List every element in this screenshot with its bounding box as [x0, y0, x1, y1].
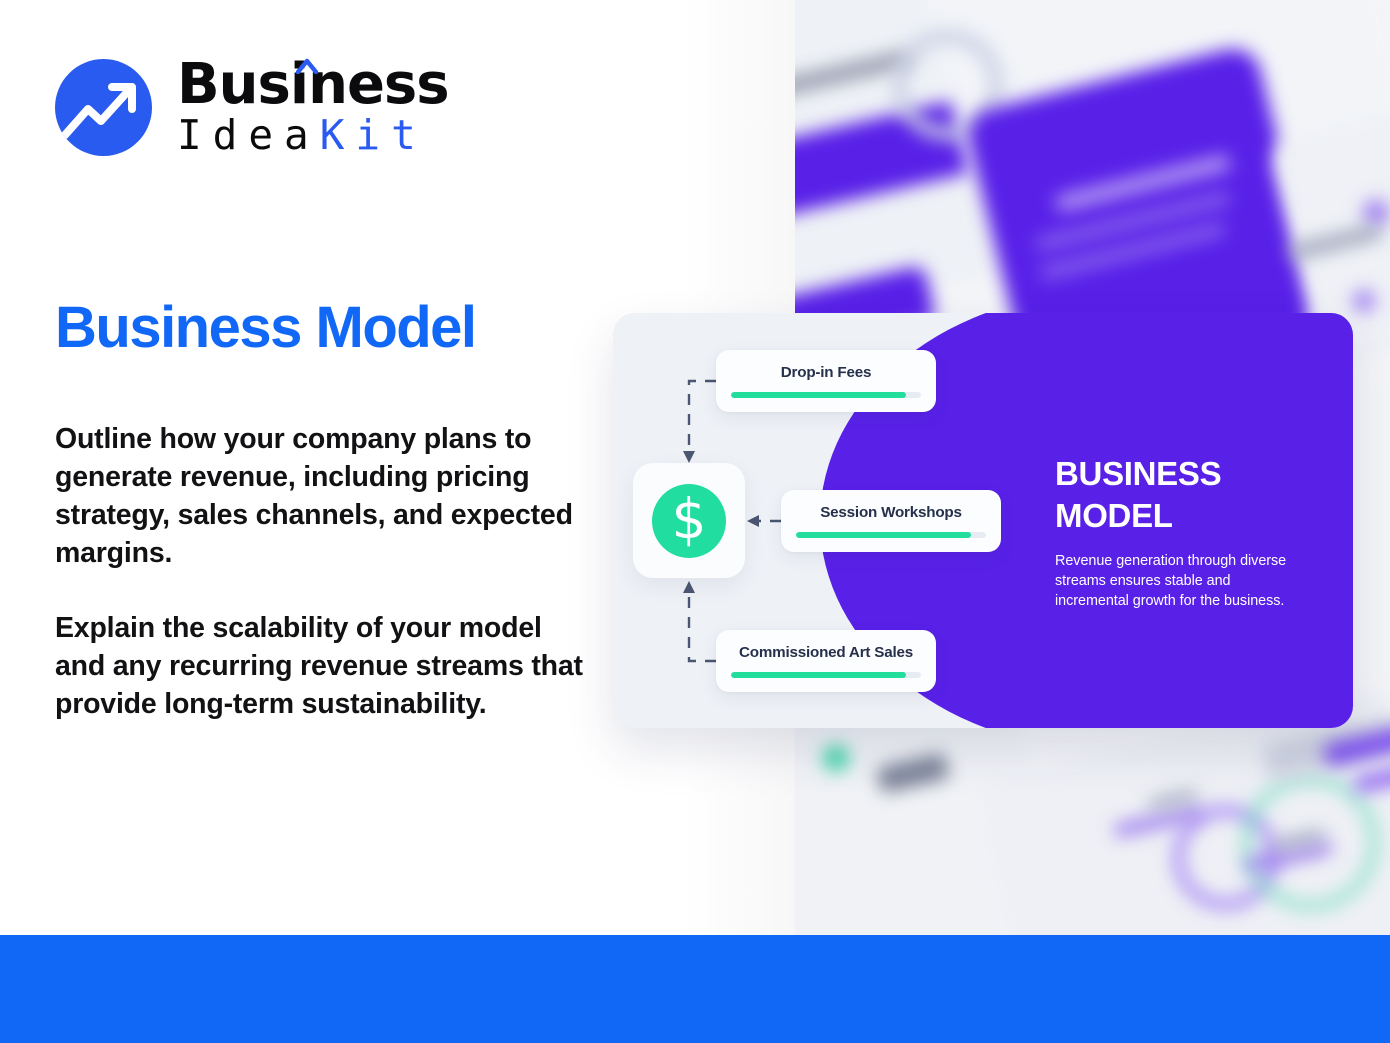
dollar-glyph: $	[672, 492, 707, 547]
stream-node-session-workshops[interactable]: Session Workshops	[781, 490, 1001, 552]
stream-progress-track	[796, 532, 986, 538]
brand-name-idea: Idea	[177, 111, 320, 159]
purple-panel-title: BUSINESS MODEL	[1055, 453, 1325, 537]
purple-panel-description: Revenue generation through diverse strea…	[1055, 551, 1305, 611]
growth-arrow-icon	[55, 59, 152, 156]
stream-label: Drop-in Fees	[781, 364, 871, 381]
body-paragraph-1: Outline how your company plans to genera…	[55, 420, 590, 572]
stream-progress-track	[731, 672, 921, 678]
purple-panel-content: BUSINESS MODEL Revenue generation throug…	[1043, 313, 1353, 728]
stream-progress-fill	[731, 672, 906, 678]
stream-progress-fill	[796, 532, 971, 538]
dollar-sign-icon: $	[652, 484, 726, 558]
brand-name-kit: Kit	[320, 111, 427, 159]
stream-progress-fill	[731, 392, 906, 398]
brand-wordmark: Business IdeaKit	[177, 56, 449, 158]
stream-node-commissioned-art-sales[interactable]: Commissioned Art Sales	[716, 630, 936, 692]
stream-progress-track	[731, 392, 921, 398]
stream-label: Commissioned Art Sales	[739, 644, 913, 661]
body-paragraph-2: Explain the scalability of your model an…	[55, 609, 590, 723]
stream-label: Session Workshops	[820, 504, 961, 521]
footer-bar	[0, 935, 1390, 1043]
page-title: Business Model	[55, 296, 476, 360]
brand-name-line2: IdeaKit	[177, 112, 449, 158]
stream-node-drop-in-fees[interactable]: Drop-in Fees	[716, 350, 936, 412]
chevron-accent-icon	[296, 58, 318, 74]
brand-logo: Business IdeaKit	[55, 56, 449, 158]
feature-card: $ Drop-in Fees Session Workshops Commiss…	[613, 313, 1353, 728]
central-revenue-node: $	[633, 463, 745, 578]
